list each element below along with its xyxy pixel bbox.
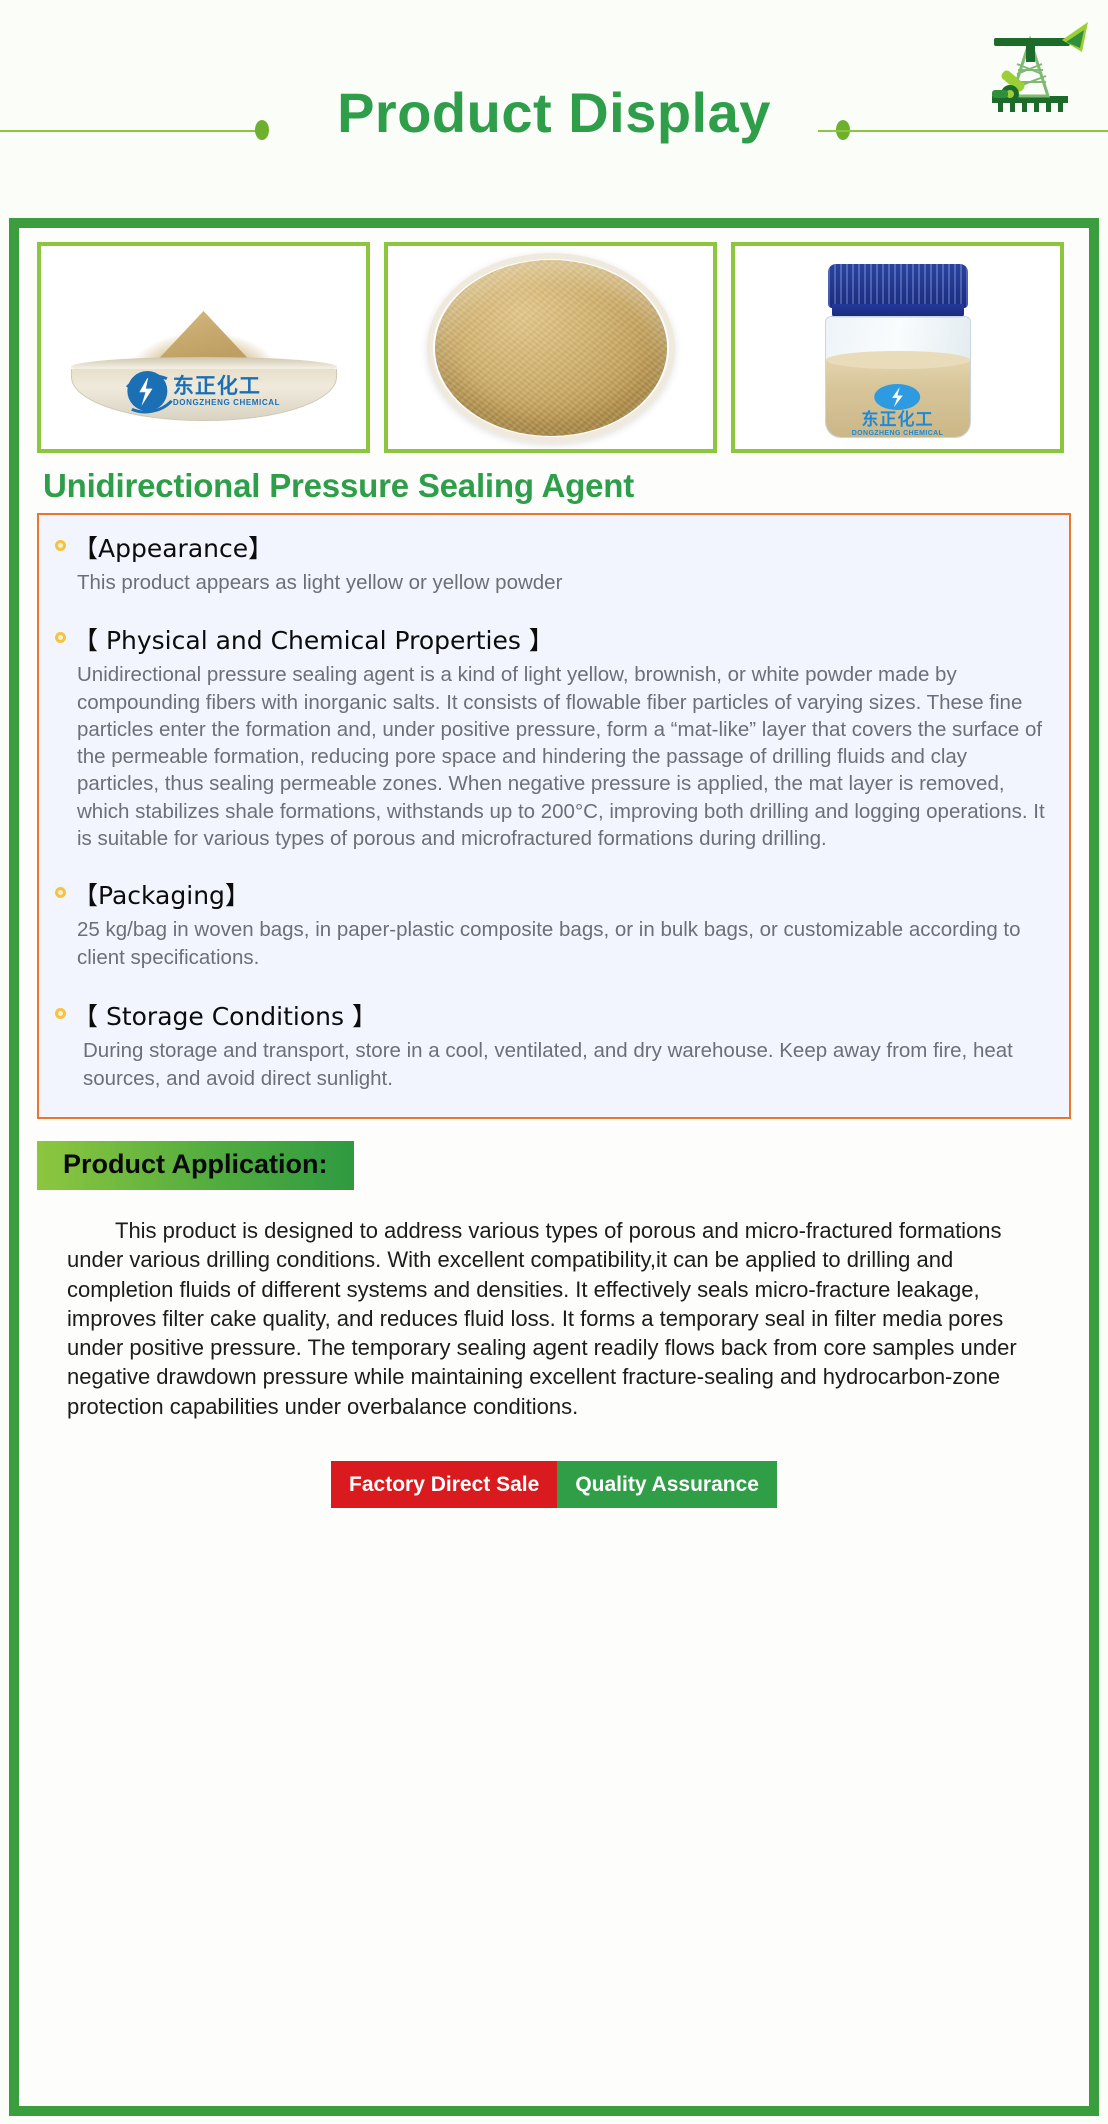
spacer — [55, 979, 1053, 997]
spec-body-text: 25 kg/bag in woven bags, in paper-plasti… — [55, 916, 1053, 973]
oil-pump-jack-icon — [970, 18, 1090, 118]
jar-cap — [828, 264, 968, 308]
product-name: Unidirectional Pressure Sealing Agent — [37, 463, 1071, 513]
watermark-logo: 东正化工 DONGZHENG CHEMICAL — [127, 371, 280, 411]
product-frame: 东正化工 DONGZHENG CHEMICAL — [9, 218, 1099, 2116]
bullet-dot-icon — [55, 632, 66, 643]
application-banner-label: Product Application: — [37, 1141, 354, 1190]
spec-section-appearance: 【Appearance】 This product appears as lig… — [55, 529, 1053, 597]
spec-section-physical-chemical-properties: 【 Physical and Chemical Properties 】 Uni… — [55, 621, 1053, 852]
product-image-powder-dish[interactable]: 东正化工 DONGZHENG CHEMICAL — [37, 242, 370, 453]
spec-body-text: During storage and transport, store in a… — [55, 1037, 1053, 1094]
petri-dish-illustration: 东正化工 DONGZHENG CHEMICAL — [41, 246, 366, 449]
spec-heading-label: 【 Physical and Chemical Properties 】 — [73, 621, 554, 657]
application-body-text: This product is designed to address vari… — [67, 1218, 1017, 1419]
spec-heading-label: 【Packaging】 — [73, 876, 250, 912]
spec-heading-row: 【 Storage Conditions 】 — [55, 997, 1053, 1033]
watermark-chinese-name: 东正化工 — [852, 412, 944, 430]
dongzheng-logo-mark-icon — [875, 384, 921, 410]
product-image-powder-closeup[interactable] — [384, 242, 717, 453]
spacer — [55, 603, 1053, 621]
spec-body-text: This product appears as light yellow or … — [55, 569, 1053, 597]
product-image-gallery: 东正化工 DONGZHENG CHEMICAL — [37, 242, 1071, 453]
spec-section-storage-conditions: 【 Storage Conditions 】 During storage an… — [55, 997, 1053, 1094]
badge-quality-assurance[interactable]: Quality Assurance — [557, 1461, 777, 1508]
spec-heading-label: 【Appearance】 — [73, 529, 273, 565]
closeup-powder-surface — [435, 260, 667, 436]
product-image-powder-jar[interactable]: 东正化工 DONGZHENG CHEMICAL — [731, 242, 1064, 453]
application-banner-row: Product Application: — [37, 1141, 1071, 1190]
bullet-dot-icon — [55, 1008, 66, 1019]
spec-heading-row: 【Packaging】 — [55, 876, 1053, 912]
spec-section-packaging: 【Packaging】 25 kg/bag in woven bags, in … — [55, 876, 1053, 973]
glass-jar-illustration: 东正化工 DONGZHENG CHEMICAL — [735, 246, 1060, 449]
application-body: This product is designed to address vari… — [37, 1190, 1071, 1421]
page-header: Product Display — [0, 0, 1108, 208]
dongzheng-logo-mark-icon — [127, 371, 167, 411]
header-rule-right — [818, 130, 1108, 132]
spec-body-text: Unidirectional pressure sealing agent is… — [55, 661, 1053, 852]
bullet-dot-icon — [55, 887, 66, 898]
page-title: Product Display — [0, 80, 1108, 145]
spec-heading-label: 【 Storage Conditions 】 — [73, 997, 377, 1033]
powder-closeup-illustration — [388, 246, 713, 449]
trust-badge-row: Factory Direct Sale Quality Assurance — [37, 1461, 1071, 1508]
badge-factory-direct-sale[interactable]: Factory Direct Sale — [331, 1461, 557, 1508]
spec-heading-row: 【 Physical and Chemical Properties 】 — [55, 621, 1053, 657]
spacer — [55, 858, 1053, 876]
watermark-english-name: DONGZHENG CHEMICAL — [852, 430, 944, 437]
bullet-dot-icon — [55, 540, 66, 551]
watermark-english-name: DONGZHENG CHEMICAL — [173, 399, 280, 407]
watermark-chinese-name: 东正化工 — [173, 376, 280, 397]
spec-heading-row: 【Appearance】 — [55, 529, 1053, 565]
watermark-logo: 东正化工 DONGZHENG CHEMICAL — [852, 384, 944, 437]
product-specifications-box: 【Appearance】 This product appears as lig… — [37, 513, 1071, 1119]
